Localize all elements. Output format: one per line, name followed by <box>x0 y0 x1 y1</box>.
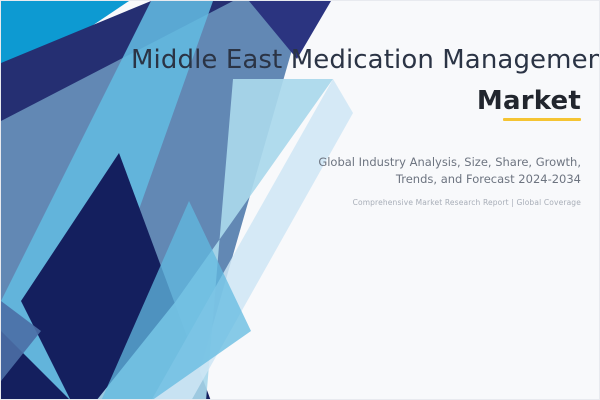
report-cover: Middle East Medication Management Market… <box>0 0 600 400</box>
subtitle-line-1: Global Industry Analysis, Size, Share, G… <box>201 154 581 171</box>
cover-text-layer: Middle East Medication Management Market… <box>1 1 600 400</box>
page-title-primary: Middle East Medication Management <box>131 45 581 76</box>
subtitle-line-2: Trends, and Forecast 2024-2034 <box>201 171 581 188</box>
cover-caption: Comprehensive Market Research Report | G… <box>201 198 581 207</box>
subtitle: Global Industry Analysis, Size, Share, G… <box>201 154 581 187</box>
title-accent-underline <box>503 118 581 121</box>
page-title-accent: Market <box>477 86 581 117</box>
page-title-accent-row: Market <box>131 86 581 117</box>
